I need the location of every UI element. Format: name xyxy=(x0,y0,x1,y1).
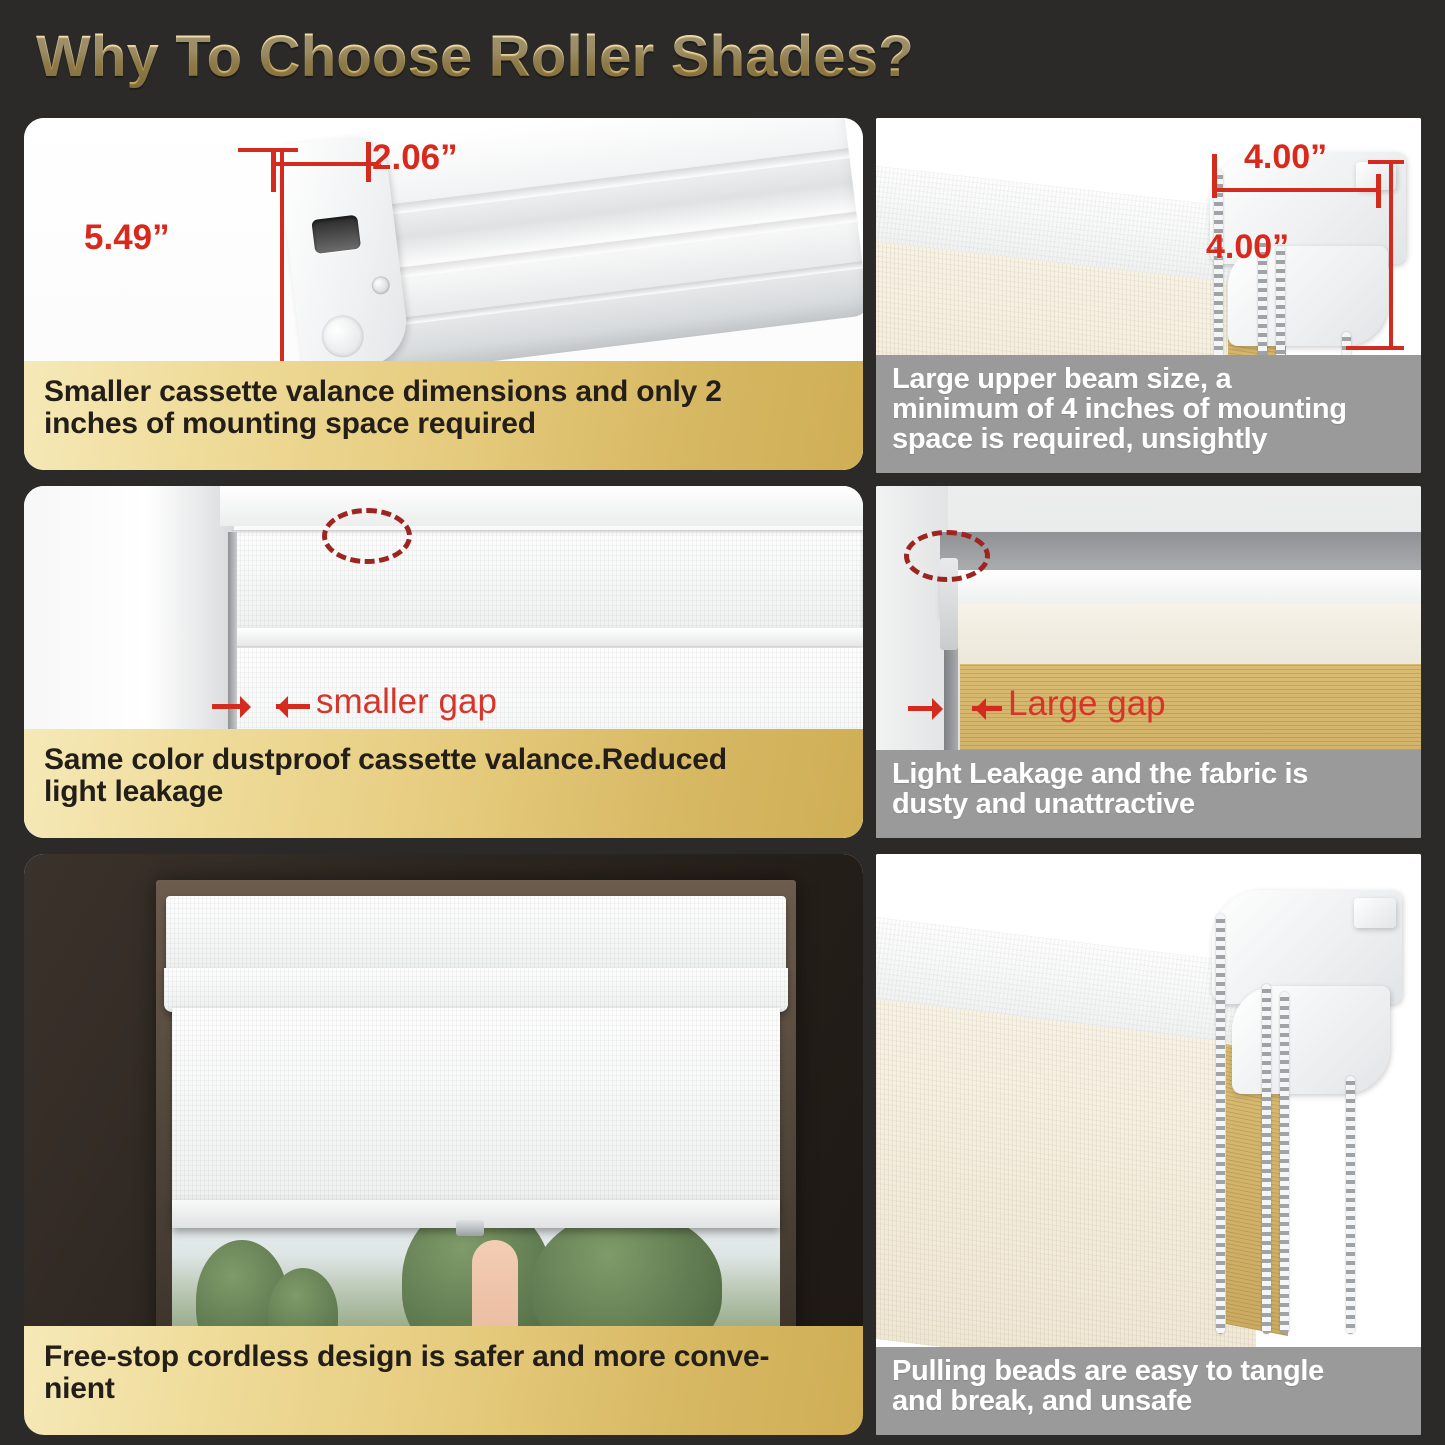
shade-fabric xyxy=(172,1008,780,1206)
panel-pulling-beads-tangle: Pulling beads are easy to tangle and bre… xyxy=(876,854,1421,1435)
height-dimension-line xyxy=(1368,160,1404,164)
panel-free-stop-cordless-design: Free-stop cordless design is safer and m… xyxy=(24,854,863,1435)
roller-fabric xyxy=(876,994,1256,1386)
bead-chain xyxy=(1216,914,1225,1334)
height-dimension-label: 5.49” xyxy=(84,218,170,258)
caption-line: Smaller cassette valance dimensions and … xyxy=(44,376,843,408)
width-dimension-line xyxy=(366,142,371,182)
width-dimension-label: 2.06” xyxy=(372,138,458,178)
caption-line: dusty and unattractive xyxy=(892,790,1407,820)
panel-light-leakage-dusty-fabric: Large gap Light Leakage and the fabric i… xyxy=(876,486,1421,838)
caption-line: Light Leakage and the fabric is xyxy=(892,760,1407,790)
mounting-knob xyxy=(319,313,366,360)
panel-cassette-valance-dimensions: 2.06” 5.49” Smaller cassette valance dim… xyxy=(24,118,863,470)
caption-line: Pulling beads are easy to tangle xyxy=(892,1357,1407,1387)
caption-line: and break, and unsafe xyxy=(892,1387,1407,1417)
gap-label: Large gap xyxy=(1008,684,1166,724)
bracket-tab xyxy=(1354,898,1396,928)
caption-line: light leakage xyxy=(44,776,843,808)
highlight-ellipse xyxy=(322,508,412,564)
height-dimension-line xyxy=(1346,346,1404,350)
gap-arrow-right-head xyxy=(964,698,986,720)
caption-banner: Same color dustproof cassette valance.Re… xyxy=(24,729,863,838)
highlight-ellipse xyxy=(904,530,990,582)
width-dimension-line xyxy=(271,148,276,192)
caption-line: inches of mounting space required xyxy=(44,408,843,440)
page-header: Why To Choose Roller Shades? xyxy=(0,0,1445,112)
caption-line: minimum of 4 inches of mounting xyxy=(892,395,1407,425)
caption-banner: Light Leakage and the fabric is dusty an… xyxy=(876,750,1421,838)
width-dimension-line xyxy=(271,162,381,166)
comparison-grid: 2.06” 5.49” Smaller cassette valance dim… xyxy=(0,112,1445,1445)
cord-slot xyxy=(311,215,361,254)
screw-icon xyxy=(371,275,391,295)
caption-line: Large upper beam size, a xyxy=(892,365,1407,395)
caption-line: nient xyxy=(44,1373,843,1405)
valance-seam xyxy=(232,628,863,646)
bead-chain xyxy=(1262,984,1271,1334)
caption-line: space is required, unsightly xyxy=(892,425,1407,455)
gap-arrow-right-head xyxy=(266,696,288,718)
height-dimension-line xyxy=(238,148,298,152)
window-frame xyxy=(156,880,796,1360)
width-dimension-line xyxy=(1212,188,1380,192)
panel-large-upper-beam: 4.00” 4.00” Large upper beam size, a min… xyxy=(876,118,1421,473)
window-frame-top xyxy=(220,486,863,526)
caption-banner: Large upper beam size, a minimum of 4 in… xyxy=(876,355,1421,473)
caption-line: Free-stop cordless design is safer and m… xyxy=(44,1341,843,1373)
gap-label: smaller gap xyxy=(316,682,497,722)
valance-face xyxy=(956,604,1421,666)
width-dimension-label: 4.00” xyxy=(1244,138,1327,177)
valance-lip xyxy=(164,968,788,1012)
height-dimension-line xyxy=(1389,160,1393,350)
height-dimension-label: 4.00” xyxy=(1206,228,1289,267)
bead-chain xyxy=(1280,992,1289,1334)
gap-arrow-left-head xyxy=(932,698,954,720)
bead-chain xyxy=(1346,1076,1355,1334)
caption-line: Same color dustproof cassette valance.Re… xyxy=(44,744,843,776)
pull-handle xyxy=(456,1220,484,1236)
page-title: Why To Choose Roller Shades? xyxy=(36,23,914,90)
caption-banner: Pulling beads are easy to tangle and bre… xyxy=(876,1347,1421,1435)
width-dimension-line xyxy=(1376,174,1381,208)
gap-arrow-left-head xyxy=(240,696,262,718)
caption-banner: Smaller cassette valance dimensions and … xyxy=(24,361,863,470)
caption-banner: Free-stop cordless design is safer and m… xyxy=(24,1326,863,1435)
mounting-bracket-lower xyxy=(1232,986,1390,1094)
panel-dustproof-cassette-valance: smaller gap Same color dustproof cassett… xyxy=(24,486,863,838)
cassette-valance xyxy=(166,896,786,974)
